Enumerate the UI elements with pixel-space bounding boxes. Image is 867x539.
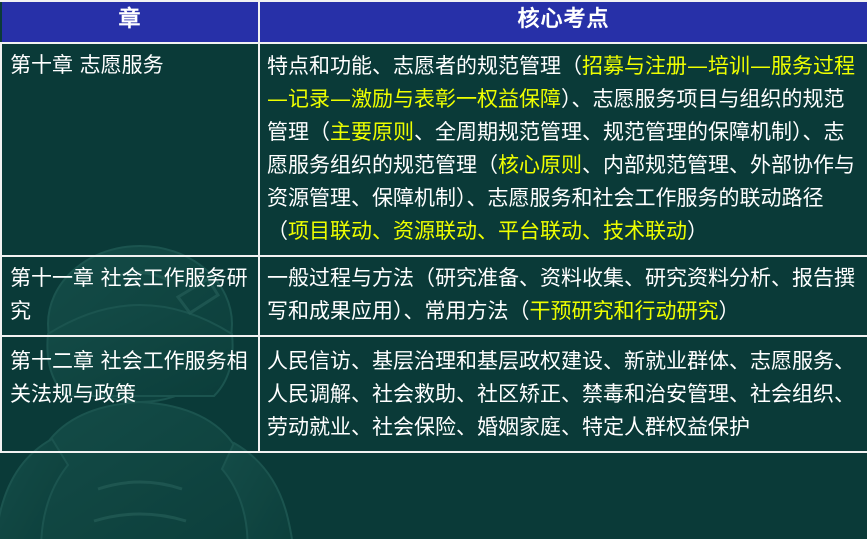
highlighted-text-run: 核心原则: [498, 153, 582, 177]
highlighted-text-run: 主要原则: [330, 120, 414, 144]
key-points-text: 人民信访、基层治理和基层政权建设、新就业群体、志愿服务、人民调解、社会救助、社区…: [260, 337, 867, 451]
highlighted-text-run: 项目联动、资源联动、平台联动、技术联动: [288, 219, 687, 243]
chapter-cell: 第十二章 社会工作服务相关法规与政策: [1, 336, 259, 452]
table-body: 第十章 志愿服务 特点和功能、志愿者的规范管理（招募与注册—培训—服务过程—记录…: [1, 43, 867, 452]
table-header: 章 核心考点: [1, 1, 867, 43]
key-points-cell: 人民信访、基层治理和基层政权建设、新就业群体、志愿服务、人民调解、社会救助、社区…: [259, 336, 867, 452]
table-row: 第十章 志愿服务 特点和功能、志愿者的规范管理（招募与注册—培训—服务过程—记录…: [1, 43, 867, 256]
chapter-title: 第十一章 社会工作服务研究: [2, 257, 258, 335]
key-points-cell: 特点和功能、志愿者的规范管理（招募与注册—培训—服务过程—记录—激励与表彰一权益…: [259, 43, 867, 256]
plain-text-run: 人民信访、基层治理和基层政权建设、新就业群体、志愿服务、人民调解、社会救助、社区…: [267, 349, 855, 439]
chapter-title: 第十二章 社会工作服务相关法规与政策: [2, 337, 258, 418]
plain-text-run: ）: [719, 299, 740, 323]
highlighted-text-run: 干预研究和行动研究: [530, 299, 719, 323]
chapter-title: 第十章 志愿服务: [2, 44, 258, 89]
table-header-row: 章 核心考点: [1, 1, 867, 43]
plain-text-run: ）: [687, 219, 708, 243]
key-points-table: 章 核心考点 第十章 志愿服务 特点和功能、志愿者的规范管理（招募与注册—培训—…: [0, 0, 867, 453]
chapter-cell: 第十章 志愿服务: [1, 43, 259, 256]
slide-root: 章 核心考点 第十章 志愿服务 特点和功能、志愿者的规范管理（招募与注册—培训—…: [0, 0, 867, 539]
chapter-cell: 第十一章 社会工作服务研究: [1, 256, 259, 336]
key-points-text: 一般过程与方法（研究准备、资料收集、研究资料分析、报告撰写和成果应用）、常用方法…: [260, 257, 867, 335]
column-header-chapter: 章: [1, 1, 259, 43]
table-row: 第十二章 社会工作服务相关法规与政策 人民信访、基层治理和基层政权建设、新就业群…: [1, 336, 867, 452]
table-row: 第十一章 社会工作服务研究 一般过程与方法（研究准备、资料收集、研究资料分析、报…: [1, 256, 867, 336]
key-points-text: 特点和功能、志愿者的规范管理（招募与注册—培训—服务过程—记录—激励与表彰一权益…: [260, 44, 867, 255]
column-header-key-points: 核心考点: [259, 1, 867, 43]
plain-text-run: 特点和功能、志愿者的规范管理（: [267, 54, 582, 78]
key-points-cell: 一般过程与方法（研究准备、资料收集、研究资料分析、报告撰写和成果应用）、常用方法…: [259, 256, 867, 336]
